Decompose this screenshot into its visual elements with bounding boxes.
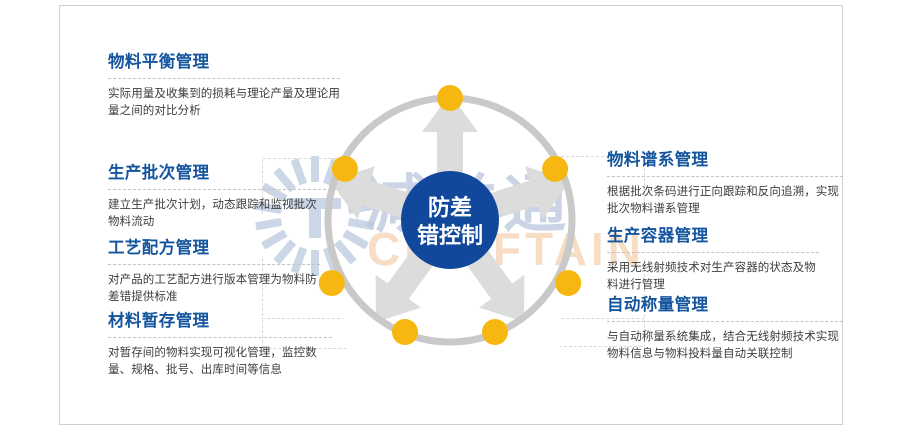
feature-desc: 对暂存间的物料实现可视化管理，监控数量、规格、批号、出库时间等信息 — [108, 344, 332, 380]
feature-title: 材料暂存管理 — [108, 311, 332, 332]
feature-block-automatic-weighing[interactable]: 自动称量管理 与自动称量系统集成，结合无线射频技术实现物料信息与物料投料量自动关… — [607, 295, 843, 363]
ring-node-1[interactable] — [437, 85, 463, 111]
feature-block-production-container[interactable]: 生产容器管理 采用无线射频技术对生产容器的状态及物料进行管理 — [607, 226, 819, 294]
ring-node-3[interactable] — [555, 270, 581, 296]
title-divider — [607, 252, 819, 253]
feature-desc: 对产品的工艺配方进行版本管理为物料防差错提供标准 — [108, 271, 320, 307]
feature-desc: 实际用量及收集到的损耗与理论产量及理论用量之间的对比分析 — [108, 85, 340, 121]
center-label-line1: 防差 — [428, 195, 472, 221]
feature-block-material-storage[interactable]: 材料暂存管理 对暂存间的物料实现可视化管理，监控数量、规格、批号、出库时间等信息 — [108, 311, 332, 379]
feature-title: 生产容器管理 — [607, 226, 819, 247]
title-divider — [108, 78, 340, 79]
feature-title: 自动称量管理 — [607, 295, 843, 316]
title-divider — [108, 189, 326, 190]
title-divider — [607, 321, 843, 322]
ring-node-4[interactable] — [482, 319, 508, 345]
slide-canvas: 减益通 CHIEFTAIN — [0, 0, 901, 428]
central-diagram: 防差 错控制 — [300, 70, 600, 370]
feature-title: 生产批次管理 — [108, 163, 326, 184]
ring-node-7[interactable] — [332, 156, 358, 182]
ring-node-2[interactable] — [542, 156, 568, 182]
feature-desc: 采用无线射频技术对生产容器的状态及物料进行管理 — [607, 259, 819, 295]
feature-block-production-batch[interactable]: 生产批次管理 建立生产批次计划，动态跟踪和监视批次物料流动 — [108, 163, 326, 231]
feature-block-material-balance[interactable]: 物料平衡管理 实际用量及收集到的损耗与理论产量及理论用量之间的对比分析 — [108, 52, 340, 120]
feature-desc: 与自动称量系统集成，结合无线射频技术实现物料信息与物料投料量自动关联控制 — [607, 328, 843, 364]
center-label-line2: 错控制 — [417, 223, 483, 249]
title-divider — [108, 337, 332, 338]
title-divider — [108, 264, 320, 265]
feature-desc: 根据批次条码进行正向跟踪和反向追溯，实现批次物料谱系管理 — [607, 183, 843, 219]
ring-node-6[interactable] — [319, 270, 345, 296]
feature-title: 物料谱系管理 — [607, 150, 843, 171]
feature-block-process-recipe[interactable]: 工艺配方管理 对产品的工艺配方进行版本管理为物料防差错提供标准 — [108, 238, 320, 306]
feature-block-material-genealogy[interactable]: 物料谱系管理 根据批次条码进行正向跟踪和反向追溯，实现批次物料谱系管理 — [607, 150, 843, 218]
title-divider — [607, 176, 843, 177]
feature-title: 工艺配方管理 — [108, 238, 320, 259]
feature-title: 物料平衡管理 — [108, 52, 340, 73]
feature-desc: 建立生产批次计划，动态跟踪和监视批次物料流动 — [108, 196, 326, 232]
ring-node-5[interactable] — [392, 319, 418, 345]
